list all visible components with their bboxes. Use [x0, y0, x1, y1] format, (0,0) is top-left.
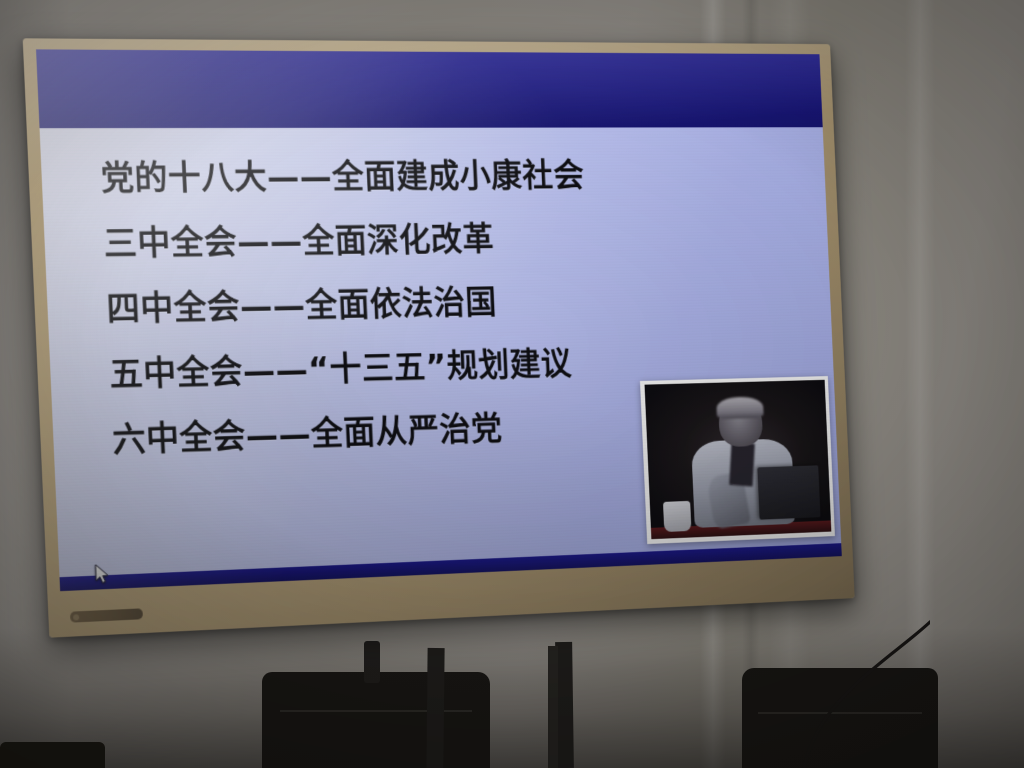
speaker-video-frame: [645, 380, 832, 539]
wall-mounted-display: 党的十八大——全面建成小康社会 三中全会——全面深化改革 四中全会——全面依法治…: [23, 38, 855, 637]
display-stand-post: [548, 646, 558, 768]
slide-top-band: [36, 49, 823, 128]
speaker-video-overlay[interactable]: [640, 376, 835, 544]
chair-back-far-left: [0, 742, 105, 768]
cup-icon: [663, 500, 692, 532]
slide-line-2: 三中全会——全面深化改革: [103, 219, 828, 260]
speaker-collar: [729, 442, 755, 487]
slide-line-1: 党的十八大——全面建成小康社会: [100, 158, 825, 195]
display-screen[interactable]: 党的十八大——全面建成小康社会 三中全会——全面深化改革 四中全会——全面依法治…: [36, 49, 842, 591]
slide-content-area: 党的十八大——全面建成小康社会 三中全会——全面深化改革 四中全会——全面依法治…: [40, 127, 842, 577]
display-stand-post: [426, 648, 444, 768]
speaker-hair: [716, 397, 764, 420]
presentation-slide: 党的十八大——全面建成小康社会 三中全会——全面深化改革 四中全会——全面依法治…: [36, 49, 842, 591]
display-bezel: 党的十八大——全面建成小康社会 三中全会——全面深化改革 四中全会——全面依法治…: [23, 38, 855, 637]
room-photo-scene: 党的十八大——全面建成小康社会 三中全会——全面深化改革 四中全会——全面依法治…: [0, 0, 1024, 768]
laptop-icon: [757, 465, 820, 519]
slide-line-3: 四中全会——全面依法治国: [106, 280, 831, 326]
brand-logo-icon: [73, 614, 79, 620]
chair-back-left: [262, 672, 490, 768]
chair-back-right: [742, 668, 938, 768]
display-brand-plate: [70, 608, 143, 622]
display-stand-bracket: [364, 641, 380, 683]
